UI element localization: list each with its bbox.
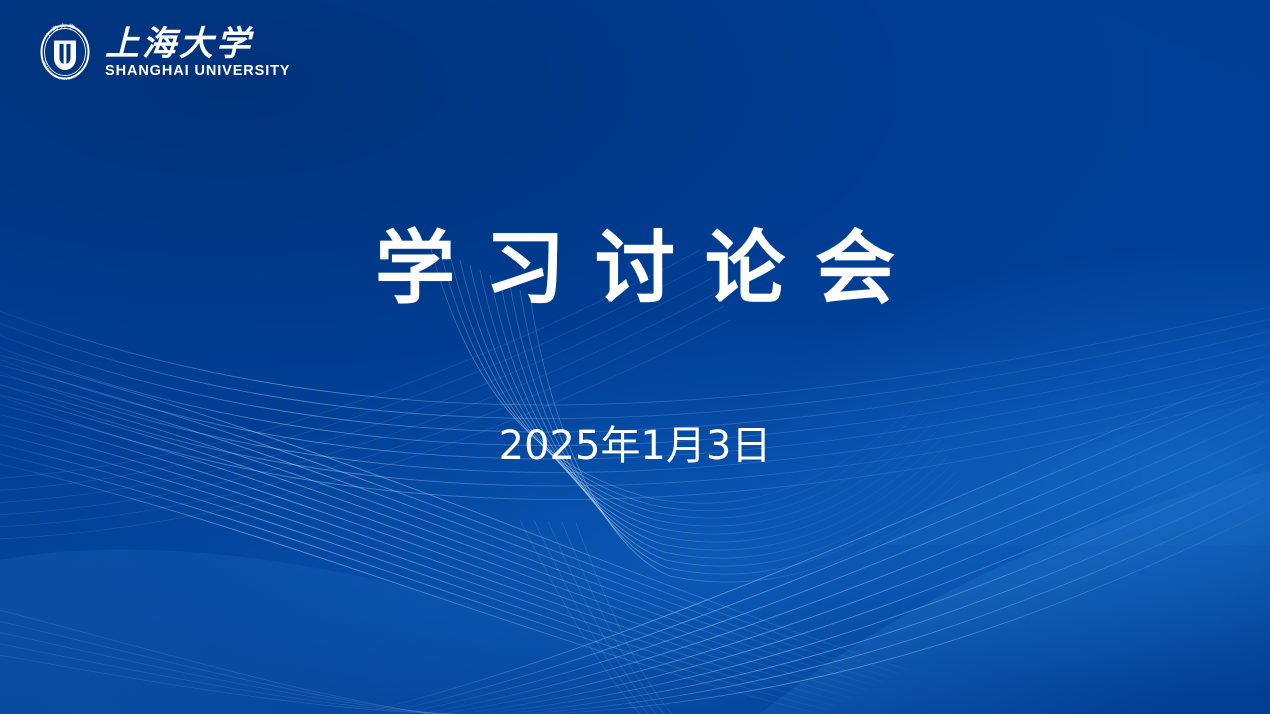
logo-name-cn: 上海大学	[105, 26, 290, 63]
shanghai-university-seal-icon: 上海大学 SHANGHAI UNIVERSITY	[34, 18, 96, 86]
logo-name-en: SHANGHAI UNIVERSITY	[105, 64, 290, 79]
title-slide: 上海大学 SHANGHAI UNIVERSITY 上海大学 SHANGHAI U…	[0, 0, 1270, 714]
university-logo: 上海大学 SHANGHAI UNIVERSITY 上海大学 SHANGHAI U…	[34, 18, 290, 86]
background-vignette	[0, 0, 1270, 714]
svg-text:上海大学: 上海大学	[44, 22, 77, 40]
logo-wordmark: 上海大学 SHANGHAI UNIVERSITY	[105, 26, 290, 78]
